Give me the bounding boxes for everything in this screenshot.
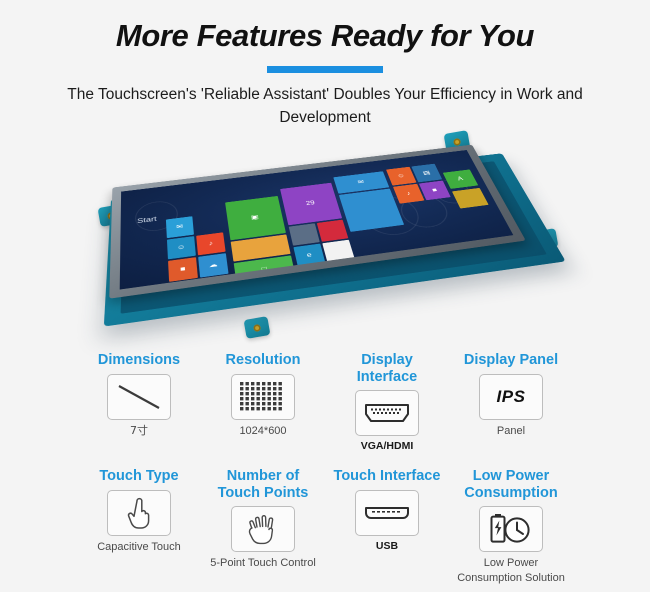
feature-title: Number of Touch Points: [207, 468, 319, 501]
feature-row-1: Dimensions 7寸 Resolution: [0, 352, 650, 454]
feature-caption: 5-Point Touch Control: [210, 556, 316, 570]
windows-tile: ♪: [196, 232, 225, 255]
feature-resolution: Resolution: [207, 352, 319, 438]
ips-label: IPS: [497, 387, 526, 407]
feature-caption: VGA/HDMI: [361, 440, 414, 454]
feature-caption: Capacitive Touch: [97, 540, 181, 554]
pointing-hand-icon: [107, 490, 171, 536]
ips-text-icon: IPS: [479, 374, 543, 420]
feature-title: Display Panel: [464, 352, 558, 369]
feature-title: Resolution: [226, 352, 301, 369]
windows-tile: ▤: [411, 164, 442, 183]
feature-display-panel: Display Panel IPS Panel: [455, 352, 567, 438]
feature-title: Touch Type: [99, 468, 178, 485]
windows-tile: ■: [168, 257, 198, 282]
feature-title: Touch Interface: [334, 468, 441, 485]
feature-display-interface: Display Interface: [331, 352, 443, 454]
feature-caption: Panel: [497, 424, 525, 438]
feature-touch-points: Number of Touch Points 5-Point Touch Con…: [207, 468, 319, 571]
feature-touch-type: Touch Type Capacitive Touch: [83, 468, 195, 554]
feature-dimensions: Dimensions 7寸: [83, 352, 195, 438]
windows-tile: A: [443, 169, 478, 188]
usb-port-icon: [355, 490, 419, 536]
feature-row-2: Touch Type Capacitive Touch Number of To…: [0, 468, 650, 585]
hdmi-port-icon: [355, 390, 419, 436]
feature-spec-grid: Dimensions 7寸 Resolution: [0, 352, 650, 585]
windows-tile: [317, 220, 349, 242]
feature-caption: 1024*600: [239, 424, 286, 438]
feature-low-power: Low Power Consumption Low Power Consumpt…: [455, 468, 567, 585]
page-title: More Features Ready for You: [0, 0, 650, 53]
five-finger-hand-icon: [231, 506, 295, 552]
windows-tile: [339, 189, 404, 232]
windows-tile: ☺: [167, 236, 196, 259]
feature-title: Display Interface: [331, 352, 443, 385]
windows-tile: [289, 223, 320, 245]
windows-tile: 29: [280, 183, 342, 226]
screen-diagonal-icon: [107, 374, 171, 420]
windows-tile: ✉: [166, 216, 194, 238]
battery-clock-icon: [479, 506, 543, 552]
pixel-grid-icon: [231, 374, 295, 420]
feature-touch-interface: Touch Interface USB: [331, 468, 443, 554]
feature-title: Dimensions: [98, 352, 180, 369]
windows-tile: ☁: [198, 253, 228, 277]
mounting-hole-icon: [244, 316, 271, 339]
product-image: Start ✉☺♪■☁▣□29e✉☺▤♪■A: [95, 122, 565, 337]
feature-title: Low Power Consumption: [455, 468, 567, 501]
feature-caption: Low Power Consumption Solution: [455, 556, 567, 585]
windows-tile: ▣: [225, 196, 286, 240]
feature-caption: USB: [376, 540, 398, 554]
windows-tile: ■: [419, 181, 451, 201]
product-feature-page: More Features Ready for You The Touchscr…: [0, 0, 650, 592]
title-accent-bar: [267, 66, 383, 73]
windows-tile: [452, 188, 489, 209]
feature-caption: 7寸: [130, 424, 148, 438]
